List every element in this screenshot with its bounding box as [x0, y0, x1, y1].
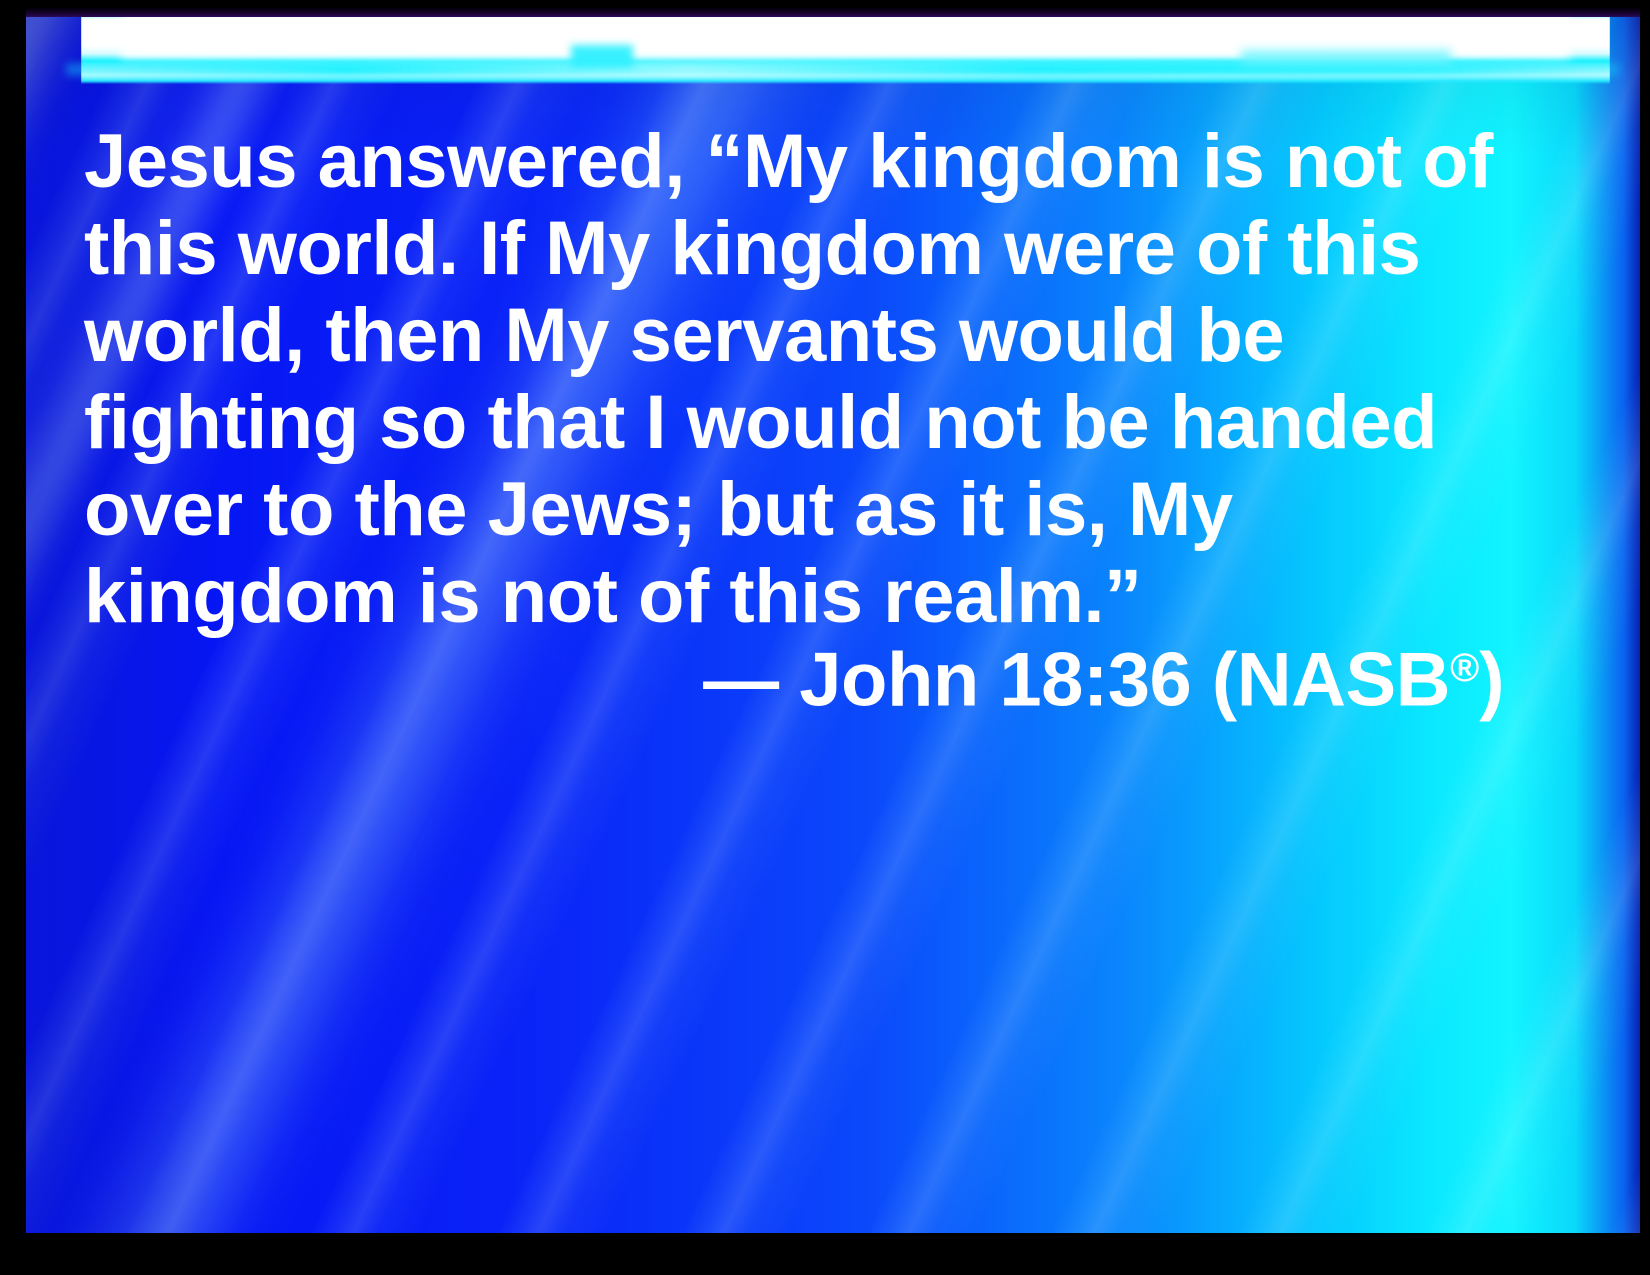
attribution-dash: — — [703, 638, 799, 723]
attribution-reference: John 18:36 (NASB — [799, 638, 1450, 723]
attribution-close-paren: ) — [1479, 638, 1504, 723]
text-layer: Jesus answered, “My kingdom is not of th… — [0, 0, 1650, 1275]
verse-slide: Jesus answered, “My kingdom is not of th… — [0, 0, 1650, 1275]
registered-trademark-icon: ® — [1450, 646, 1479, 690]
verse-attribution: — John 18:36 (NASB®) — [84, 622, 1504, 727]
verse-text: Jesus answered, “My kingdom is not of th… — [84, 118, 1504, 640]
